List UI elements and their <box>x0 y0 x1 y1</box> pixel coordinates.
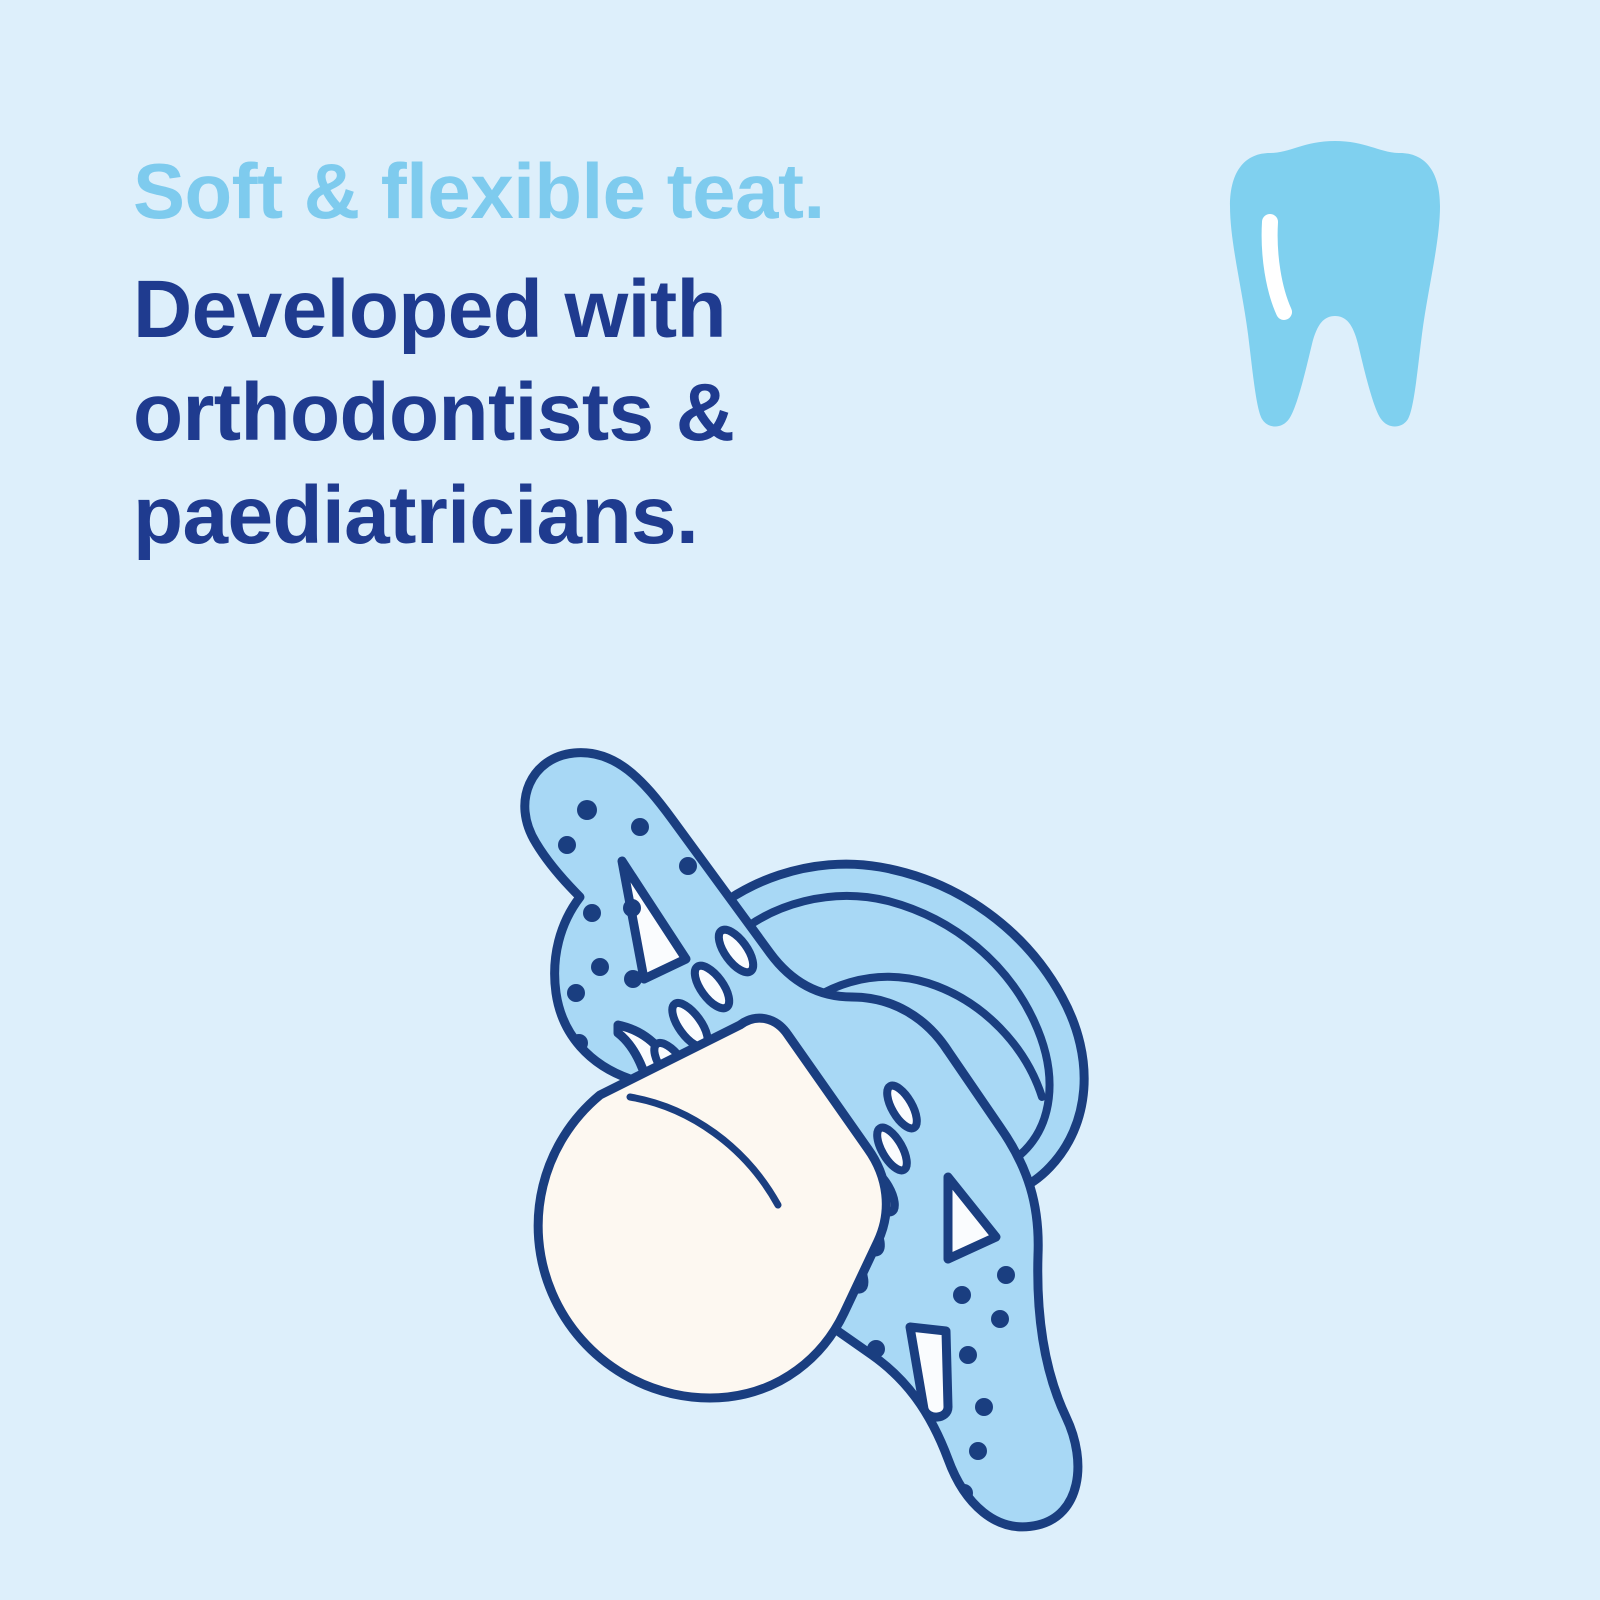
copy-block: Soft & flexible teat. Developed with ort… <box>133 152 1133 567</box>
headline: Developed with orthodontists & paediatri… <box>133 258 1133 568</box>
tooth-icon <box>1228 138 1443 430</box>
pacifier-illustration <box>440 735 1140 1535</box>
tooth-body <box>1230 141 1440 427</box>
product-feature-card: Soft & flexible teat. Developed with ort… <box>0 0 1600 1600</box>
eyebrow-text: Soft & flexible teat. <box>133 152 1133 232</box>
headline-line-3: paediatricians. <box>133 464 1133 567</box>
headline-line-2: orthodontists & <box>133 361 1133 464</box>
headline-line-1: Developed with <box>133 258 1133 361</box>
